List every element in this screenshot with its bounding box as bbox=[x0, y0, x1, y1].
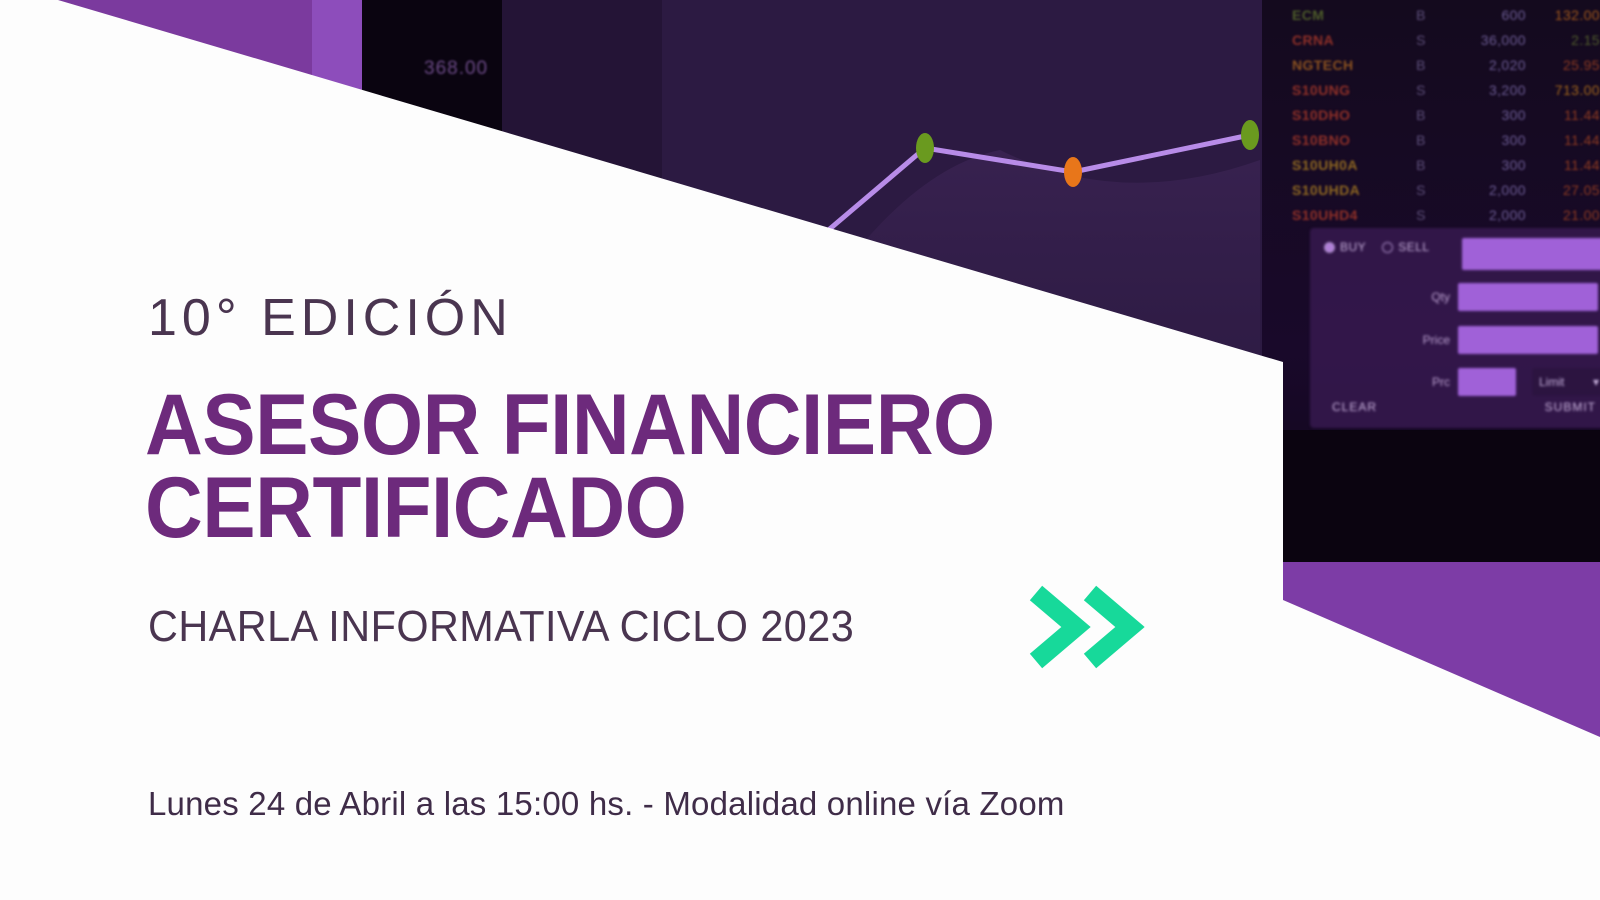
prc-field-row: Prc bbox=[1410, 368, 1516, 396]
ticker-quantity: 300 bbox=[1442, 157, 1526, 173]
ticker-row: S10DHO B 300 11.44 bbox=[1292, 102, 1600, 127]
edition-label: 10° EDICIÓN bbox=[148, 288, 513, 348]
radio-selected-icon bbox=[1324, 242, 1335, 253]
ticker-side: S bbox=[1400, 182, 1442, 198]
ticker-symbol: S10UHDA bbox=[1292, 182, 1400, 198]
qty-field-row: Qty ▲▼ bbox=[1410, 283, 1600, 311]
event-details: Lunes 24 de Abril a las 15:00 hs. - Moda… bbox=[148, 785, 1065, 823]
symbol-field-row bbox=[1462, 238, 1600, 270]
ticker-row: NGTECH B 2,020 25.95 bbox=[1292, 52, 1600, 77]
ticker-quantity: 2,020 bbox=[1442, 57, 1526, 73]
ticker-symbol: S10UHD4 bbox=[1292, 207, 1400, 223]
headline-line-1: ASESOR FINANCIERO bbox=[145, 377, 995, 473]
qty-label: Qty bbox=[1410, 290, 1450, 304]
buy-label: BUY bbox=[1340, 240, 1366, 254]
price-field-row: Price ▲▼ bbox=[1410, 326, 1600, 354]
price-input bbox=[1458, 326, 1598, 354]
chart-marker-4 bbox=[1241, 120, 1259, 150]
ticker-quantity: 36,000 bbox=[1442, 32, 1526, 48]
ticker-price: 21.00 bbox=[1526, 207, 1600, 223]
ticker-price: 11.44 bbox=[1526, 132, 1600, 148]
submit-button: SUBMIT bbox=[1545, 400, 1596, 414]
ticker-quantity: 2,000 bbox=[1442, 182, 1526, 198]
prc-input bbox=[1458, 368, 1516, 396]
ticker-row: S10UHDA S 2,000 27.05 bbox=[1292, 177, 1600, 202]
ticker-price: 713.00 bbox=[1526, 82, 1600, 98]
ticker-quantity: 300 bbox=[1442, 107, 1526, 123]
ticker-symbol: CRNA bbox=[1292, 32, 1400, 48]
sell-radio: SELL bbox=[1382, 240, 1429, 254]
page-title: ASESOR FINANCIERO CERTIFICADO bbox=[145, 384, 995, 551]
ticker-row: S10UNG S 3,200 713.00 bbox=[1292, 77, 1600, 102]
page-subtitle: CHARLA INFORMATIVA CICLO 2023 bbox=[148, 602, 854, 652]
poster-canvas: 368.00 ECM B 600 132.00 bbox=[0, 0, 1600, 900]
ticker-symbol: S10UNG bbox=[1292, 82, 1400, 98]
ticker-row: S10UH0A B 300 11.44 bbox=[1292, 152, 1600, 177]
ticker-symbol: ECM bbox=[1292, 7, 1400, 23]
double-chevron-right-icon bbox=[1028, 583, 1148, 676]
chart-marker-2 bbox=[916, 133, 934, 163]
order-side-group: BUY SELL bbox=[1324, 240, 1430, 254]
ticker-row: ECM B 600 132.00 bbox=[1292, 2, 1600, 27]
order-type-dropdown: Limit ▾ bbox=[1532, 368, 1600, 396]
chart-marker-3 bbox=[1064, 157, 1082, 187]
qty-input bbox=[1458, 283, 1598, 311]
ticker-side: B bbox=[1400, 57, 1442, 73]
ticker-symbol: S10UH0A bbox=[1292, 157, 1400, 173]
ticker-row: S10BNO B 300 11.44 bbox=[1292, 127, 1600, 152]
radio-unselected-icon bbox=[1382, 242, 1393, 253]
ticker-price: 11.44 bbox=[1526, 107, 1600, 123]
order-entry-panel: BUY SELL Qty ▲▼ Price ▲▼ bbox=[1310, 228, 1600, 428]
ticker-quantity: 3,200 bbox=[1442, 82, 1526, 98]
price-label: Price bbox=[1410, 333, 1450, 347]
ticker-side: B bbox=[1400, 107, 1442, 123]
ticker-side: B bbox=[1400, 157, 1442, 173]
ticker-price: 27.05 bbox=[1526, 182, 1600, 198]
order-type-value: Limit bbox=[1539, 375, 1564, 389]
ticker-side: S bbox=[1400, 32, 1442, 48]
ticker-quantity: 300 bbox=[1442, 132, 1526, 148]
ticker-row: CRNA S 36,000 2.15 bbox=[1292, 27, 1600, 52]
ticker-price: 25.95 bbox=[1526, 57, 1600, 73]
buy-radio: BUY bbox=[1324, 240, 1366, 254]
ticker-price: 132.00 bbox=[1526, 7, 1600, 23]
ticker-side: S bbox=[1400, 207, 1442, 223]
ticker-price: 2.15 bbox=[1526, 32, 1600, 48]
ticker-side: S bbox=[1400, 82, 1442, 98]
ticker-side: B bbox=[1400, 132, 1442, 148]
prc-label: Prc bbox=[1410, 375, 1450, 389]
headline-line-2: CERTIFICADO bbox=[145, 467, 995, 550]
ticker-row: S10UHD4 S 2,000 21.00 bbox=[1292, 202, 1600, 227]
ticker-side: B bbox=[1400, 7, 1442, 23]
chevron-down-icon: ▾ bbox=[1593, 375, 1599, 389]
sell-label: SELL bbox=[1398, 240, 1429, 254]
ticker-price: 11.44 bbox=[1526, 157, 1600, 173]
ticker-table: ECM B 600 132.00 CRNA S 36,000 2.15 NGTE… bbox=[1292, 2, 1600, 227]
ticker-symbol: NGTECH bbox=[1292, 57, 1400, 73]
ticker-quantity: 2,000 bbox=[1442, 207, 1526, 223]
ticker-symbol: S10DHO bbox=[1292, 107, 1400, 123]
ticker-symbol: S10BNO bbox=[1292, 132, 1400, 148]
ticker-quantity: 600 bbox=[1442, 7, 1526, 23]
symbol-input bbox=[1462, 238, 1600, 270]
clear-button: CLEAR bbox=[1332, 400, 1377, 414]
